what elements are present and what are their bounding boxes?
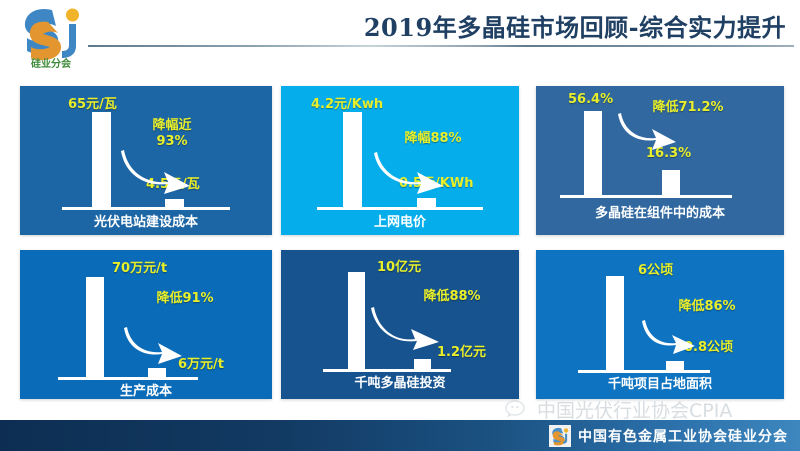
watermark-text: 中国光伏行业协会CPIA <box>537 396 732 423</box>
value-label-low: 1.2亿元 <box>437 341 486 360</box>
value-label-high: 65元/瓦 <box>68 93 117 112</box>
decline-annotation-line1: 降幅近 <box>136 118 208 133</box>
header-divider <box>88 45 794 47</box>
chart-panel-pv-station-cost[interactable]: 65元/瓦 降幅近 93% 4.5元/瓦 光伏电站建设成本 <box>20 86 272 235</box>
baseline-axis <box>317 207 483 210</box>
page-header: 硅业分会 2019年多晶硅市场回顾-综合实力提升 <box>0 0 800 72</box>
decline-annotation: 降低91% <box>140 291 230 306</box>
decline-arrow-icon <box>124 322 186 364</box>
watermark: 中国光伏行业协会CPIA <box>505 396 732 423</box>
chart-panel-kiloton-investment[interactable]: 10亿元 降低88% 1.2亿元 千吨多晶硅投资 <box>281 250 519 399</box>
chart-panel-kiloton-land-area[interactable]: 6公顷 降低86% 0.8公顷 千吨项目占地面积 <box>536 250 784 399</box>
bar-high <box>606 276 624 371</box>
value-label-low: 0.8公顷 <box>684 336 733 355</box>
chart-panel-grid-price[interactable]: 4.2元/Kwh 降幅88% 0.5元/KWh 上网电价 <box>281 86 519 235</box>
bar-high <box>343 112 362 208</box>
value-label-high: 4.2元/Kwh <box>311 93 383 112</box>
baseline-axis <box>560 195 732 198</box>
value-label-low: 4.5元/瓦 <box>146 173 200 192</box>
value-label-high: 56.4% <box>568 92 613 107</box>
silicon-branch-logo-icon: 硅业分会 <box>12 2 90 70</box>
value-label-low: 16.3% <box>646 146 691 161</box>
panel-caption: 光伏电站建设成本 <box>20 211 272 230</box>
value-label-low: 6万元/t <box>178 353 224 372</box>
value-label-high: 6公顷 <box>638 259 673 278</box>
panel-caption: 生产成本 <box>20 380 272 399</box>
bar-low <box>662 170 680 196</box>
value-label-high: 10亿元 <box>377 256 421 275</box>
bar-high <box>86 277 104 378</box>
value-label-low: 0.5元/KWh <box>399 172 473 191</box>
panel-caption: 上网电价 <box>281 211 519 230</box>
decline-annotation: 降低88% <box>407 289 497 304</box>
bar-high <box>348 272 365 370</box>
decline-annotation: 降低86% <box>662 299 752 314</box>
bar-high <box>92 112 111 208</box>
wechat-icon <box>505 399 531 421</box>
logo-caption: 硅业分会 <box>31 57 71 70</box>
panel-caption: 千吨多晶硅投资 <box>281 372 519 391</box>
value-label-high: 70万元/t <box>112 257 167 276</box>
chart-panel-production-cost[interactable]: 70万元/t 降低91% 6万元/t 生产成本 <box>20 250 272 399</box>
silicon-branch-logo-icon <box>549 425 571 447</box>
baseline-axis <box>62 207 230 210</box>
page-title: 2019年多晶硅市场回顾-综合实力提升 <box>355 8 795 43</box>
decline-arrow-icon <box>371 302 447 350</box>
bar-high <box>584 111 602 196</box>
decline-annotation: 降低71.2% <box>640 100 736 115</box>
chart-panel-polysilicon-module-cost[interactable]: 56.4% 降低71.2% 16.3% 多晶硅在组件中的成本 <box>536 86 784 235</box>
decline-annotation-line2: 93% <box>136 134 208 149</box>
decline-annotation: 降幅88% <box>389 131 477 146</box>
page-footer: 中国有色金属工业协会硅业分会 <box>0 420 800 451</box>
panel-caption: 多晶硅在组件中的成本 <box>536 202 784 221</box>
footer-org-name: 中国有色金属工业协会硅业分会 <box>578 426 788 446</box>
panel-caption: 千吨项目占地面积 <box>536 373 784 392</box>
